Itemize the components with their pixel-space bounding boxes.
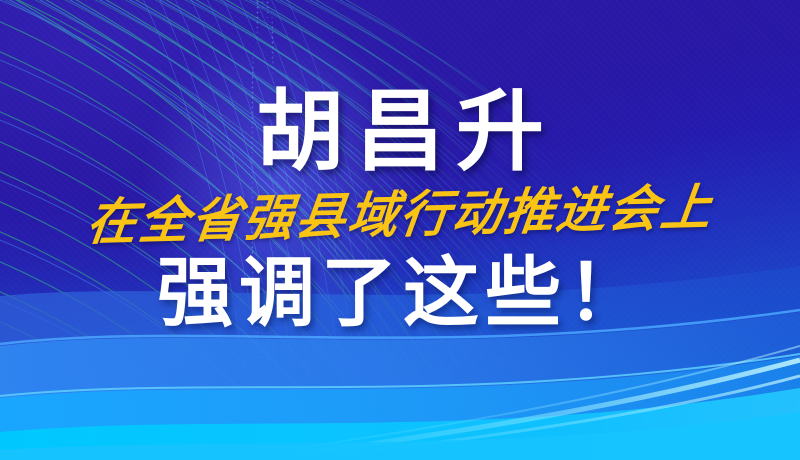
poster-tagline: 强调了这些！: [151, 256, 649, 332]
poster-canvas: 胡昌升 在全省强县域行动推进会上 强调了这些！: [0, 0, 800, 460]
poster-subheadline: 在全省强县域行动推进会上: [84, 182, 716, 247]
page-title: 胡昌升: [244, 88, 556, 176]
poster-content: 胡昌升 在全省强县域行动推进会上 强调了这些！: [0, 0, 800, 460]
